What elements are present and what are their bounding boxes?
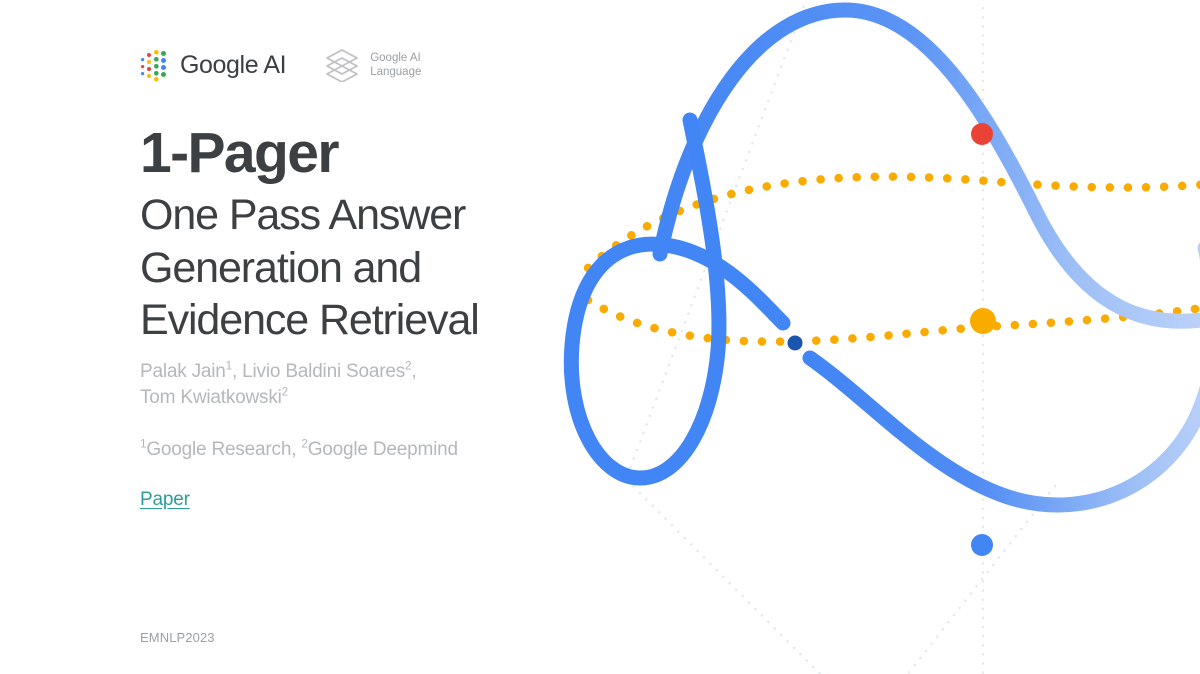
author-3-affil-marker: 2 bbox=[282, 386, 288, 399]
author-3-name: Tom Kwiatkowski bbox=[140, 387, 282, 408]
paper-link[interactable]: Paper bbox=[140, 489, 190, 511]
dotted-wave-upper bbox=[588, 177, 1200, 268]
language-logo-line2: Language bbox=[370, 65, 421, 79]
page-subtitle: One Pass Answer Generation and Evidence … bbox=[140, 189, 570, 346]
dotted-wave-lower bbox=[588, 300, 1200, 342]
google-ai-language-logo: Google AI Language bbox=[322, 48, 421, 82]
google-dot-grid-icon bbox=[140, 49, 171, 82]
title-block: 1-Pager One Pass Answer Generation and E… bbox=[140, 124, 570, 511]
dotted-wave-lines bbox=[588, 177, 1200, 342]
language-stack-icon bbox=[322, 48, 362, 82]
author-list: Palak Jain1, Livio Baldini Soares2, Tom … bbox=[140, 359, 570, 411]
curve-left-loop bbox=[571, 120, 783, 478]
conference-footer: EMNLP2023 bbox=[140, 630, 215, 645]
page-title: 1-Pager bbox=[140, 124, 570, 183]
author-1-name: Palak Jain bbox=[140, 361, 226, 382]
subtitle-line-3: Evidence Retrieval bbox=[140, 294, 570, 346]
guide-lines bbox=[625, 0, 1055, 674]
author-separator: , bbox=[411, 361, 416, 382]
navy-dot bbox=[788, 336, 803, 351]
red-dot bbox=[971, 123, 993, 145]
affil-2-label: Google Deepmind bbox=[308, 439, 458, 460]
blue-dot bbox=[971, 534, 993, 556]
subtitle-line-2: Generation and bbox=[140, 242, 570, 294]
google-ai-logo: Google AI bbox=[140, 49, 286, 82]
affiliation-list: 1Google Research, 2Google Deepmind bbox=[140, 437, 570, 463]
affil-1-label: Google Research, bbox=[146, 439, 301, 460]
yellow-dot bbox=[970, 308, 996, 334]
logo-row: Google AI Google AI Language bbox=[140, 48, 421, 82]
language-logo-line1: Google AI bbox=[370, 51, 421, 65]
subtitle-line-1: One Pass Answer bbox=[140, 189, 570, 241]
curve-top-wave bbox=[660, 10, 1200, 321]
author-2-name: , Livio Baldini Soares bbox=[232, 361, 405, 382]
curve-bottom-wave bbox=[810, 248, 1200, 505]
google-ai-wordmark: Google AI bbox=[180, 53, 286, 78]
slide-root: Google AI Google AI Language 1-Pager One… bbox=[0, 0, 1200, 674]
language-logo-text: Google AI Language bbox=[370, 51, 421, 79]
